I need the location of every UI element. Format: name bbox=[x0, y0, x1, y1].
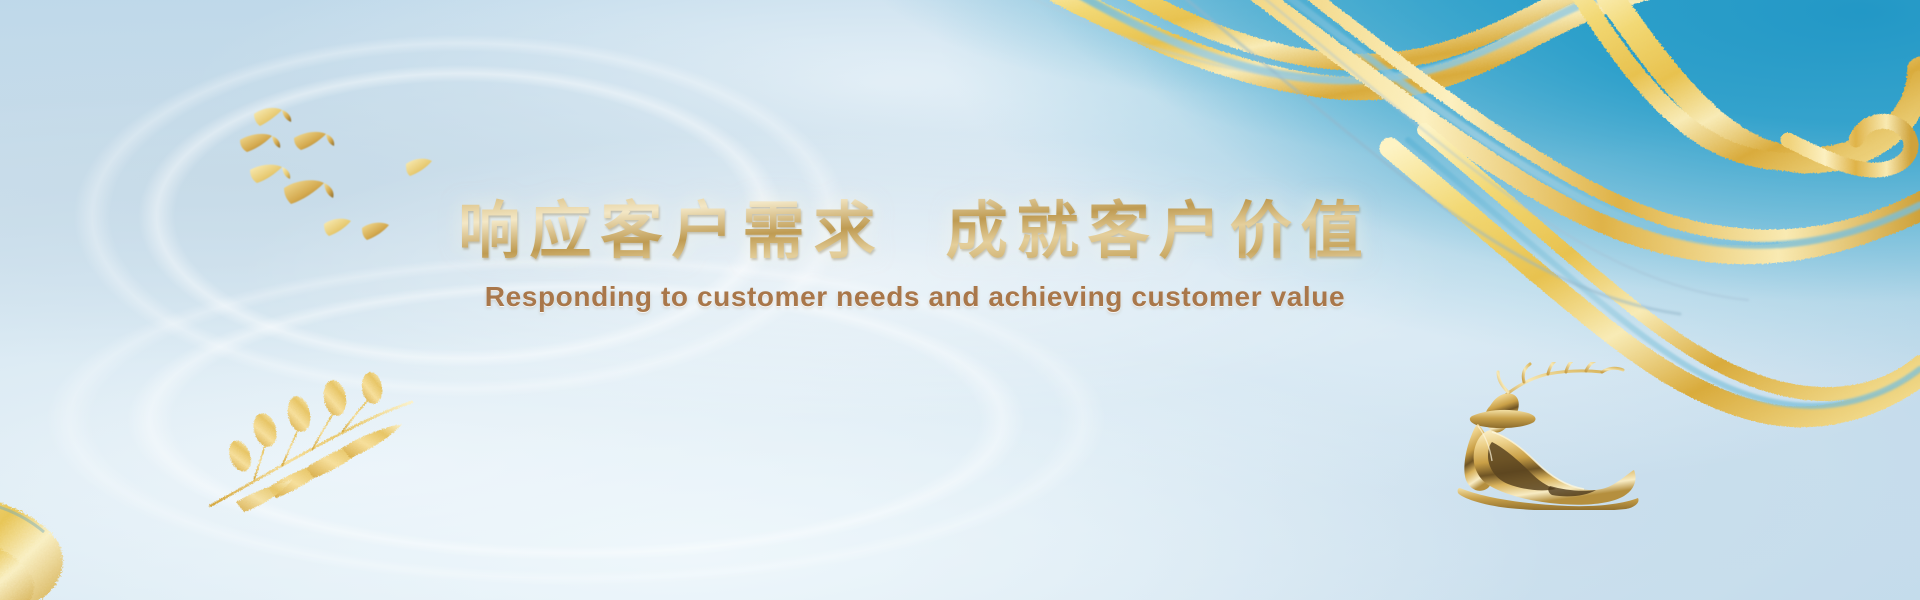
hero-banner: 响应客户需求 成就客户价值 Responding to customer nee… bbox=[0, 0, 1920, 600]
headline-english: Responding to customer needs and achievi… bbox=[0, 281, 1830, 313]
bottom-left-gold-foil-patch bbox=[0, 402, 264, 600]
headline-chinese: 响应客户需求 成就客户价值 bbox=[0, 196, 1830, 267]
headline-block: 响应客户需求 成就客户价值 Responding to customer nee… bbox=[0, 196, 1830, 313]
gold-glitter-branch-sprig bbox=[202, 352, 432, 522]
gold-reclining-deer-sculpture bbox=[1438, 362, 1648, 510]
